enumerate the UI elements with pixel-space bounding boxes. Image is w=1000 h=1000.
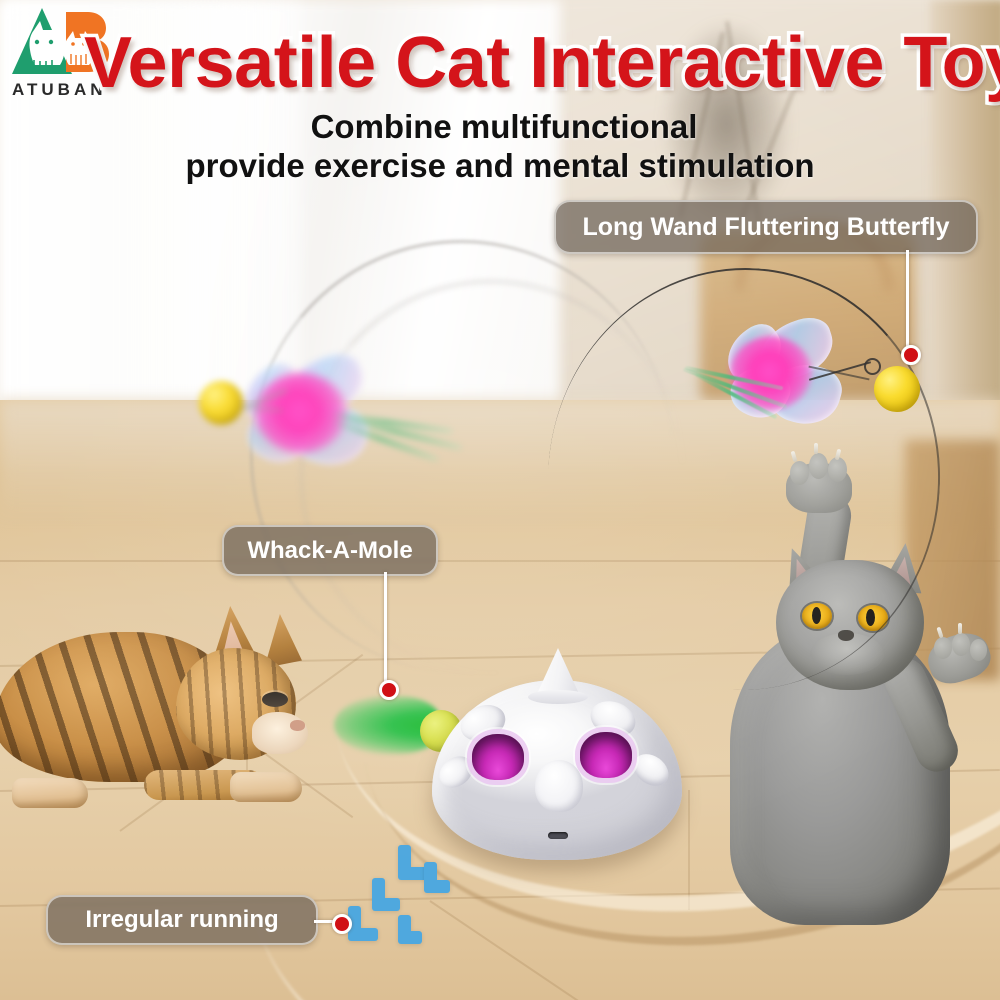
feature-badge-label: Long Wand Fluttering Butterfly (582, 213, 949, 242)
yellow-pom-ball-right (874, 366, 920, 412)
kitten-eye (262, 692, 288, 707)
cat-toe (934, 637, 952, 659)
device-cone-base (528, 690, 588, 704)
feature-marker-dot-irregular (332, 914, 352, 934)
cat-toe (952, 633, 970, 656)
cat-interactive-toy-device[interactable] (432, 640, 682, 860)
charging-port (548, 832, 568, 839)
kitten-muzzle (252, 712, 308, 754)
feather-butterfly-left (215, 355, 465, 475)
feather-butterfly-right (700, 320, 890, 430)
feature-badge-irregular-running[interactable]: Irregular running (46, 895, 318, 945)
subtitle-line-2: provide exercise and mental stimulation (0, 147, 1000, 186)
feature-badge-long-wand-fluttering-butterfly[interactable]: Long Wand Fluttering Butterfly (554, 200, 978, 254)
device-top-cone (536, 648, 580, 696)
feature-leader-line-butterfly (906, 250, 909, 350)
device-hole-right[interactable] (580, 732, 632, 778)
feature-badge-whack-a-mole[interactable]: Whack-A-Mole (222, 525, 438, 576)
feature-marker-dot-whack (379, 680, 399, 700)
feature-marker-dot-butterfly (901, 345, 921, 365)
feature-badge-label: Whack-A-Mole (247, 537, 412, 565)
feature-badge-label: Irregular running (85, 906, 278, 934)
yellow-pom-ball-left (199, 381, 243, 425)
page-subtitle: Combine multifunctional provide exercise… (0, 108, 1000, 186)
cat-toe (970, 639, 987, 661)
feature-leader-line-whack (384, 572, 387, 684)
device-center-dome (535, 760, 583, 812)
subtitle-line-1: Combine multifunctional (0, 108, 1000, 147)
kitten-paw (12, 778, 88, 808)
kitten-paw (230, 772, 302, 802)
kitten-nose (290, 720, 305, 731)
cat-claw (936, 627, 943, 639)
device-hole-left[interactable] (472, 734, 524, 780)
butterfly-swivel-ring (864, 358, 881, 375)
product-marketing-image: ATUBAN Versatile Cat Interactive Toy Com… (0, 0, 1000, 1000)
page-title: Versatile Cat Interactive Toy (84, 22, 1000, 104)
cat-claw (958, 623, 962, 634)
bengal-kitten (0, 600, 324, 850)
